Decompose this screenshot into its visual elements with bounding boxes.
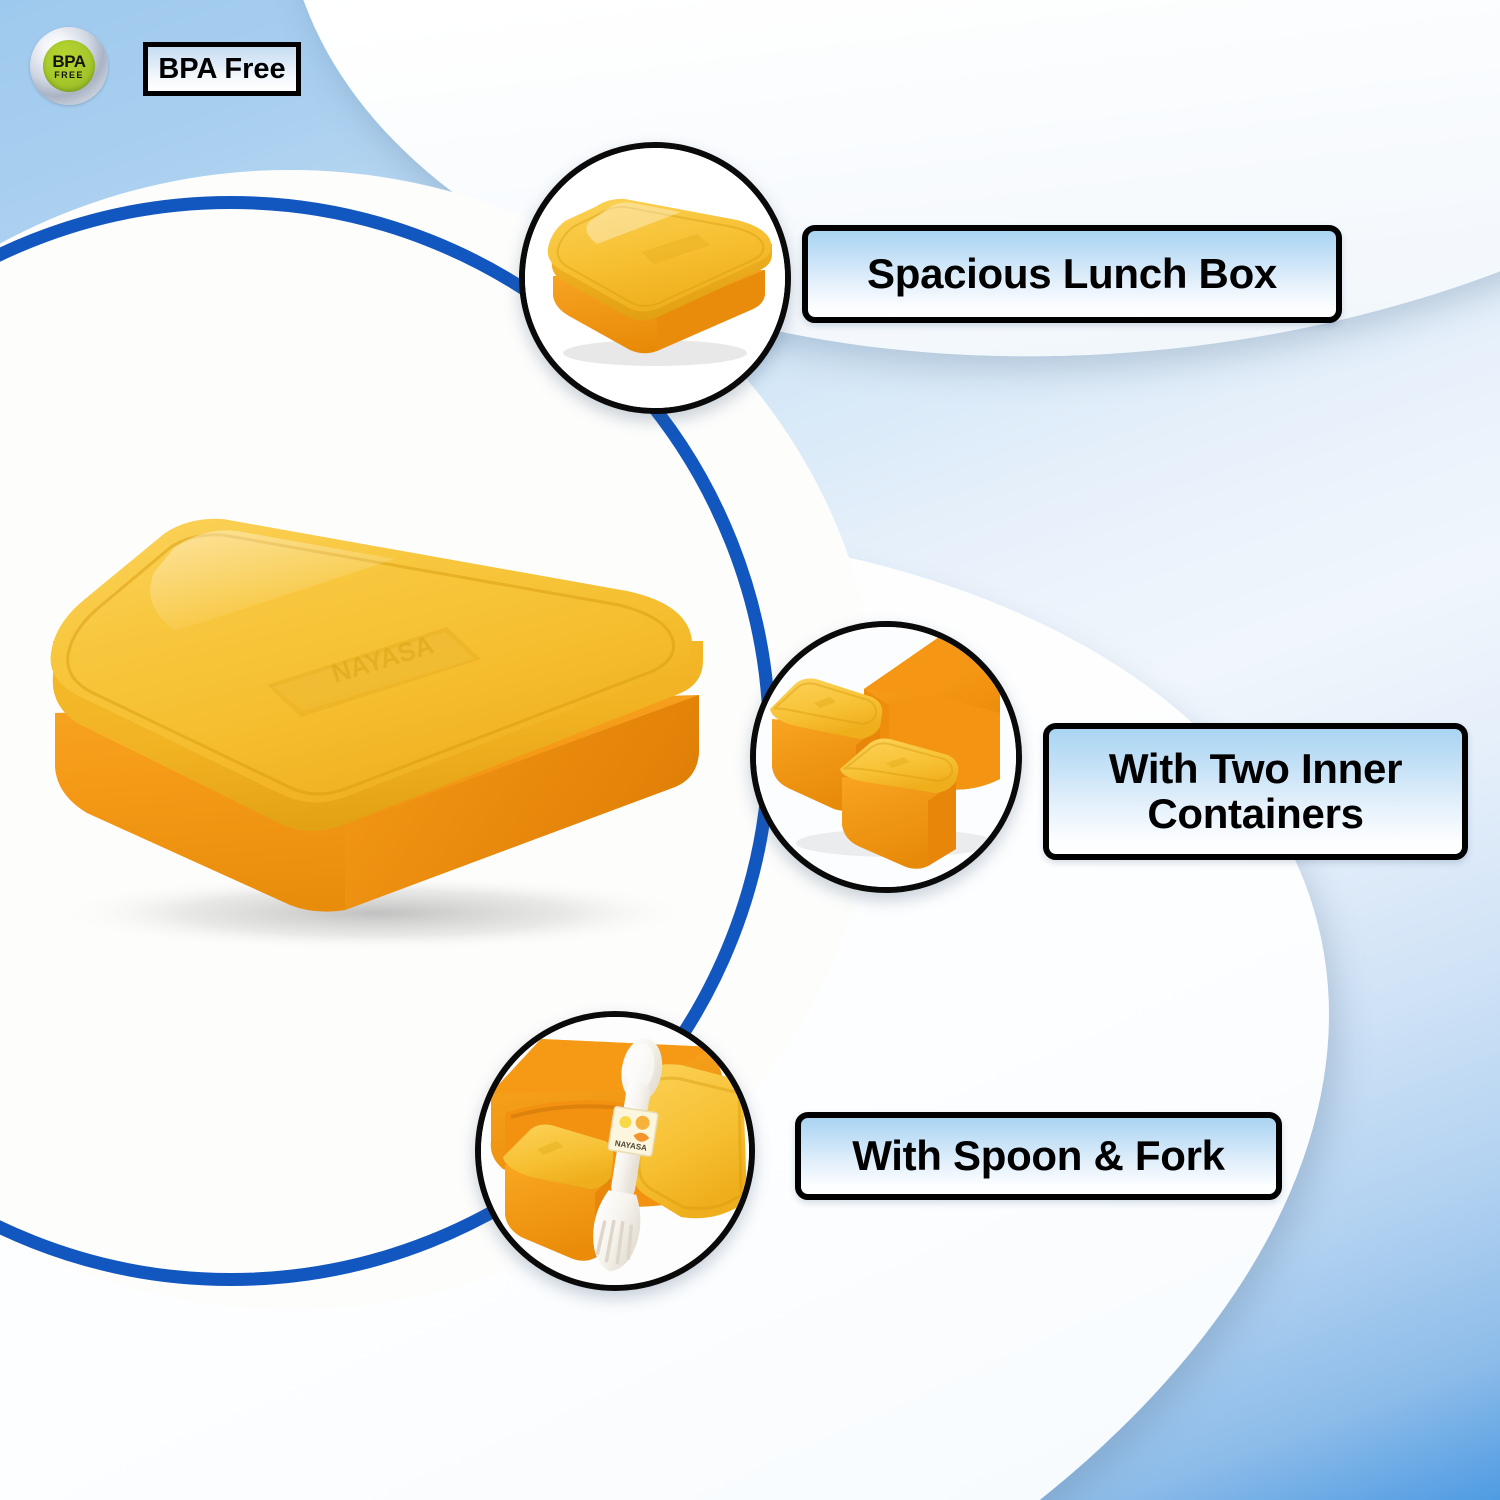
callout-circle-spoon-and-fork: NAYASA bbox=[475, 1011, 755, 1291]
feature-label-text: With Two Inner Containers bbox=[1095, 747, 1416, 836]
bpa-free-label-text: BPA Free bbox=[158, 53, 285, 86]
bpa-badge-line2: FREE bbox=[54, 71, 84, 80]
bpa-free-badge-icon: BPA FREE bbox=[30, 27, 108, 105]
feature-label-text: With Spoon & Fork bbox=[838, 1134, 1238, 1179]
feature-label-spoon-and-fork: With Spoon & Fork bbox=[795, 1112, 1282, 1200]
feature-label-two-inner-containers: With Two Inner Containers bbox=[1043, 723, 1468, 860]
feature-label-line2: Containers bbox=[1147, 790, 1363, 837]
bpa-free-label-box: BPA Free bbox=[143, 42, 301, 96]
callout-circle-spacious-lunch-box bbox=[519, 142, 791, 414]
feature-label-text: Spacious Lunch Box bbox=[853, 252, 1291, 297]
bpa-badge-line1: BPA bbox=[52, 53, 85, 70]
feature-label-spacious-lunch-box: Spacious Lunch Box bbox=[802, 225, 1342, 323]
hero-product-image: NAYASA bbox=[15, 495, 735, 955]
bpa-free-badge-core: BPA FREE bbox=[43, 40, 95, 92]
callout-circle-two-inner-containers bbox=[750, 621, 1022, 893]
feature-label-line1: With Two Inner bbox=[1109, 745, 1402, 792]
